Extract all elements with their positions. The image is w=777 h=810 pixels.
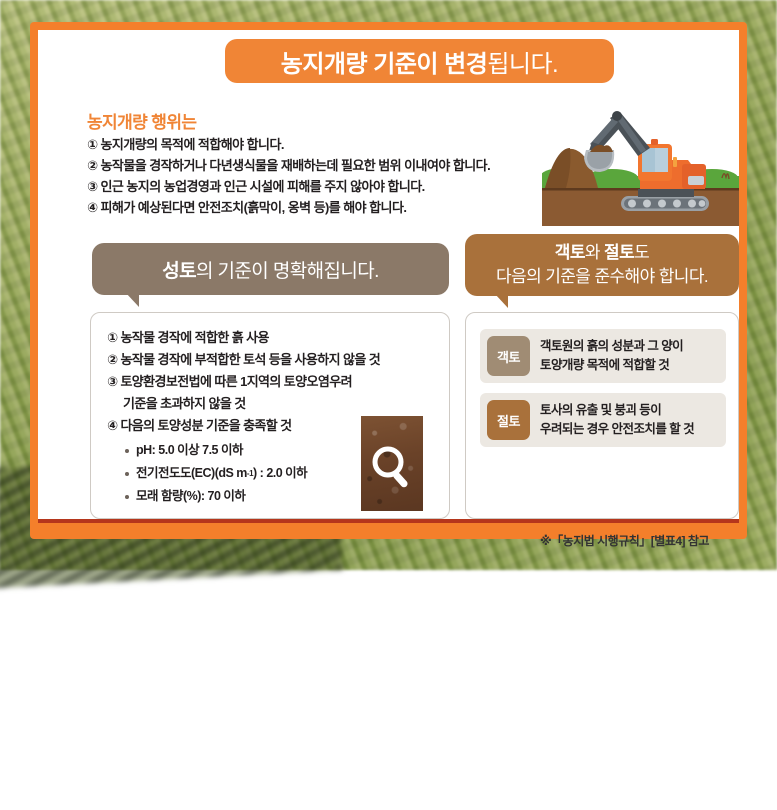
seongto-item-3-text-plain: 토양환경보전법에 따른 [120, 374, 240, 389]
excavator-icon [542, 98, 739, 226]
banner-seongto-tail [126, 293, 139, 307]
banner-gaekto-jeolto: 객토와 절토도 다음의 기준을 준수해야 합니다. [465, 234, 739, 296]
magnifier-icon [361, 416, 423, 511]
bullet-ph-label: pH [136, 439, 152, 462]
seongto-item-1-num: ① [107, 330, 117, 345]
page-title-bold: 농지개량 기준이 변경 [281, 51, 488, 78]
banner-seongto-rest: 의 기준이 명확해집니다. [196, 261, 379, 282]
tag-jeolto: 절토 [487, 400, 530, 440]
criteria-row-gaekto: 객토 객토원의 흙의 성분과 그 양이 토양개량 목적에 적합할 것 [480, 329, 726, 383]
bullet-ec-value: ) : 2.0 이하 [253, 462, 307, 485]
bullet-dot-icon [125, 472, 129, 476]
seongto-item-2-num: ② [107, 352, 117, 367]
footnote-reference: ※「농지법 시행규칙」[별표4] 참고 [540, 532, 709, 549]
top-list-item: ④ 피해가 예상된다면 안전조치(흙막이, 옹벽 등)를 해야 합니다. [87, 197, 557, 218]
banner-gaekto-jeolto-text: 객토와 절토도 다음의 기준을 준수해야 합니다. [496, 241, 708, 289]
bullet-ec-label: 전기전도도(EC)(dS m [136, 462, 247, 485]
seongto-item-1-text: 농작물 경작에 적합한 흙 사용 [120, 330, 268, 345]
soil-closeup-photo [361, 416, 423, 511]
criteria-gaekto-line1: 객토원의 흙의 성분과 그 양이 [540, 339, 683, 353]
criteria-jeolto-line1: 토사의 유출 및 붕괴 등이 [540, 403, 661, 417]
seongto-item-2: ② 농작물 경작에 부적합한 토석 등을 사용하지 않을 것 [107, 349, 437, 371]
seongto-item-3: ③ 토양환경보전법에 따른 1지역의 토양오염우려 [107, 371, 437, 393]
top-section-heading: 농지개량 행위는 [87, 108, 196, 133]
banner-seongto-text: 성토의 기준이 명확해집니다. [162, 256, 379, 283]
top-list-item: ① 농지개량의 목적에 적합해야 합니다. [87, 134, 557, 155]
banner-line2: 다음의 기준을 준수해야 합니다. [496, 267, 708, 286]
top-section-list: ① 농지개량의 목적에 적합해야 합니다. ② 농작물을 경작하거나 다년생식물… [87, 134, 557, 218]
criteria-text-jeolto: 토사의 유출 및 붕괴 등이 우려되는 경우 안전조치를 할 것 [540, 401, 694, 439]
bullet-sand-value: : 70 이하 [201, 485, 246, 508]
seongto-item-4-text: 다음의 토양성분 기준을 충족할 것 [120, 418, 291, 433]
excavator-illustration [542, 98, 739, 226]
seongto-item-3-text-bold: 1지역의 토양오염우려 [240, 374, 352, 389]
criteria-row-jeolto: 절토 토사의 유출 및 붕괴 등이 우려되는 경우 안전조치를 할 것 [480, 393, 726, 447]
seongto-item-4-num: ④ [107, 418, 117, 433]
seongto-item-3-num: ③ [107, 374, 117, 389]
panel-gaekto-jeolto-criteria: 객토 객토원의 흙의 성분과 그 양이 토양개량 목적에 적합할 것 절토 토사… [465, 312, 739, 519]
title-ribbon: 농지개량 기준이 변경됩니다. [225, 39, 614, 83]
bullet-sand-label: 모래 함량(%) [136, 485, 201, 508]
tag-gaekto: 객토 [487, 336, 530, 376]
criteria-jeolto-line2: 우려되는 경우 안전조치를 할 것 [540, 422, 694, 436]
seongto-item-3-continuation: 기준을 초과하지 않을 것 [107, 393, 437, 415]
bullet-ph-value: : 5.0 이상 7.5 이하 [152, 439, 243, 462]
banner-conjunction: 와 [585, 243, 604, 262]
top-list-item: ③ 인근 농지의 농업경영과 인근 시설에 피해를 주지 않아야 합니다. [87, 176, 557, 197]
bullet-dot-icon [125, 495, 129, 499]
banner-gaekto-jeolto-tail [495, 294, 508, 308]
infographic-card: 농지개량 기준이 변경됩니다. 농지개량 행위는 ① 농지개량의 목적에 적합해… [30, 22, 747, 539]
banner-line1-end: 도 [634, 243, 649, 262]
criteria-gaekto-line2: 토양개량 목적에 적합할 것 [540, 358, 669, 372]
seongto-item-2-text: 농작물 경작에 부적합한 토석 등을 사용하지 않을 것 [120, 352, 380, 367]
page-title-tail: 됩니다. [487, 51, 558, 78]
banner-seongto: 성토의 기준이 명확해집니다. [92, 243, 449, 295]
banner-keyword-jeolto: 절토 [604, 243, 634, 262]
page-title: 농지개량 기준이 변경됩니다. [281, 44, 558, 79]
banner-keyword-gaekto: 객토 [555, 243, 585, 262]
bullet-dot-icon [125, 449, 129, 453]
criteria-text-gaekto: 객토원의 흙의 성분과 그 양이 토양개량 목적에 적합할 것 [540, 337, 683, 375]
top-list-item: ② 농작물을 경작하거나 다년생식물을 재배하는데 필요한 범위 이내여야 합니… [87, 155, 557, 176]
seongto-item-1: ① 농작물 경작에 적합한 흙 사용 [107, 327, 437, 349]
banner-seongto-keyword: 성토 [162, 261, 196, 282]
